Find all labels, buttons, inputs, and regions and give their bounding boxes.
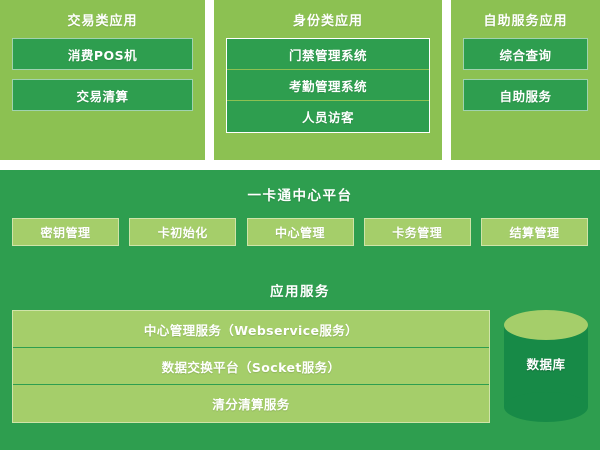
panel-transaction-applications: 交易类应用 消费POS机 交易清算 — [0, 0, 205, 160]
services-title: 应用服务 — [12, 280, 588, 300]
panel-items-identity: 门禁管理系统 考勤管理系统 人员访客 — [226, 38, 430, 133]
database-label: 数据库 — [504, 354, 588, 373]
app-item-attendance-system[interactable]: 考勤管理系统 — [227, 70, 429, 101]
database-cylinder-icon: 数据库 — [504, 310, 588, 422]
module-settlement-management[interactable]: 结算管理 — [481, 218, 588, 246]
module-center-management[interactable]: 中心管理 — [247, 218, 354, 246]
app-item-access-control-system[interactable]: 门禁管理系统 — [227, 39, 429, 70]
platform-title: 一卡通中心平台 — [0, 184, 600, 204]
panel-title-identity: 身份类应用 — [293, 14, 363, 30]
app-item-integrated-query[interactable]: 综合查询 — [463, 38, 588, 70]
service-row-data-exchange-socket[interactable]: 数据交换平台（Socket服务） — [13, 348, 489, 385]
panel-title-self-service: 自助服务应用 — [483, 14, 567, 30]
app-item-visitor-management[interactable]: 人员访客 — [227, 101, 429, 132]
panel-items-transaction: 消费POS机 交易清算 — [12, 38, 193, 120]
panel-identity-applications: 身份类应用 门禁管理系统 考勤管理系统 人员访客 — [214, 0, 442, 160]
panel-title-transaction: 交易类应用 — [67, 14, 137, 30]
app-item-transaction-settlement[interactable]: 交易清算 — [12, 79, 193, 111]
service-row-center-management-webservice[interactable]: 中心管理服务（Webservice服务） — [13, 311, 489, 348]
app-item-pos-terminal[interactable]: 消费POS机 — [12, 38, 193, 70]
panel-items-self-service: 综合查询 自助服务 — [463, 38, 588, 120]
application-services-section: 应用服务 中心管理服务（Webservice服务） 数据交换平台（Socket服… — [0, 268, 600, 450]
application-panels-row: 交易类应用 消费POS机 交易清算 身份类应用 门禁管理系统 考勤管理系统 人员… — [0, 0, 600, 160]
architecture-diagram: 交易类应用 消费POS机 交易清算 身份类应用 门禁管理系统 考勤管理系统 人员… — [0, 0, 600, 450]
database-cylinder-bottom — [504, 392, 588, 422]
module-card-initialization[interactable]: 卡初始化 — [129, 218, 236, 246]
service-row-clearing-settlement[interactable]: 清分清算服务 — [13, 385, 489, 422]
platform-module-row: 密钥管理 卡初始化 中心管理 卡务管理 结算管理 — [0, 218, 600, 246]
services-body: 中心管理服务（Webservice服务） 数据交换平台（Socket服务） 清分… — [12, 310, 588, 423]
section-divider — [0, 160, 600, 170]
panel-self-service-applications: 自助服务应用 综合查询 自助服务 — [451, 0, 600, 160]
service-row-stack: 中心管理服务（Webservice服务） 数据交换平台（Socket服务） 清分… — [12, 310, 490, 423]
module-key-management[interactable]: 密钥管理 — [12, 218, 119, 246]
module-card-service-management[interactable]: 卡务管理 — [364, 218, 471, 246]
app-item-self-service[interactable]: 自助服务 — [463, 79, 588, 111]
database-cylinder-top — [504, 310, 588, 340]
center-platform-section: 一卡通中心平台 密钥管理 卡初始化 中心管理 卡务管理 结算管理 — [0, 170, 600, 268]
